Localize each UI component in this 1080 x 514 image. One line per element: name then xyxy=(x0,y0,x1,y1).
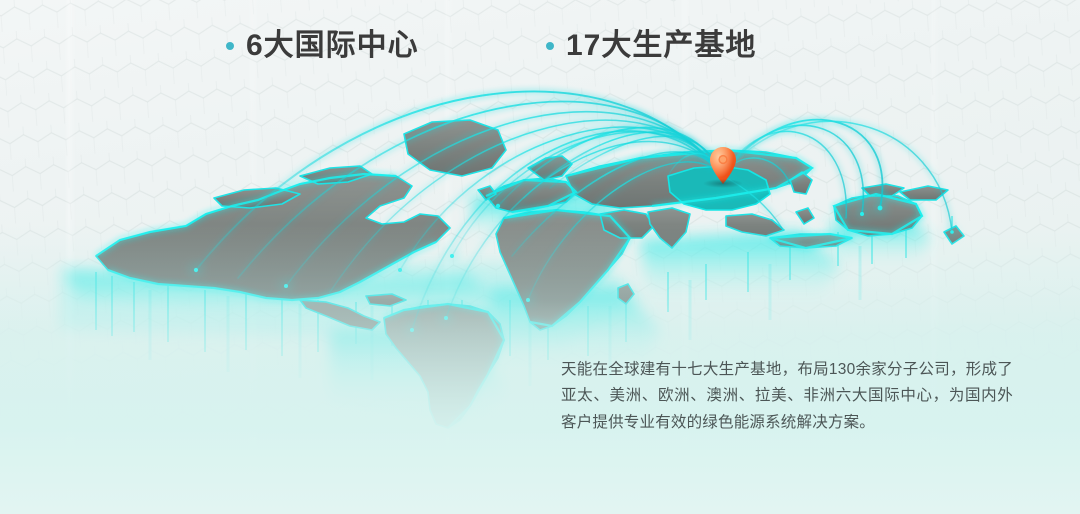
pin-shadow xyxy=(703,179,743,188)
infographic-canvas: 6大国际中心 17大生产基地 天能在全球建有十七大生产基地，布局130余家分子公… xyxy=(0,0,1080,514)
land-nz-island xyxy=(900,186,948,200)
bullet-dot-icon xyxy=(226,42,234,50)
headings-row: 6大国际中心 17大生产基地 xyxy=(0,24,1080,70)
land-southeast-asia xyxy=(726,214,784,236)
heading-production-bases: 17大生产基地 xyxy=(546,31,756,61)
description-paragraph: 天能在全球建有十七大生产基地，布局130余家分子公司，形成了亚太、美洲、欧洲、澳… xyxy=(561,357,1013,437)
world-map xyxy=(0,0,1080,514)
land-philippines xyxy=(796,208,814,224)
land-new-zealand xyxy=(944,226,964,244)
heading-international-centers: 6大国际中心 xyxy=(226,31,419,61)
bullet-dot-icon xyxy=(546,42,554,50)
map-pin-marker[interactable] xyxy=(709,146,737,186)
heading-2-label: 17大生产基地 xyxy=(566,31,756,61)
heading-1-label: 6大国际中心 xyxy=(246,31,419,61)
